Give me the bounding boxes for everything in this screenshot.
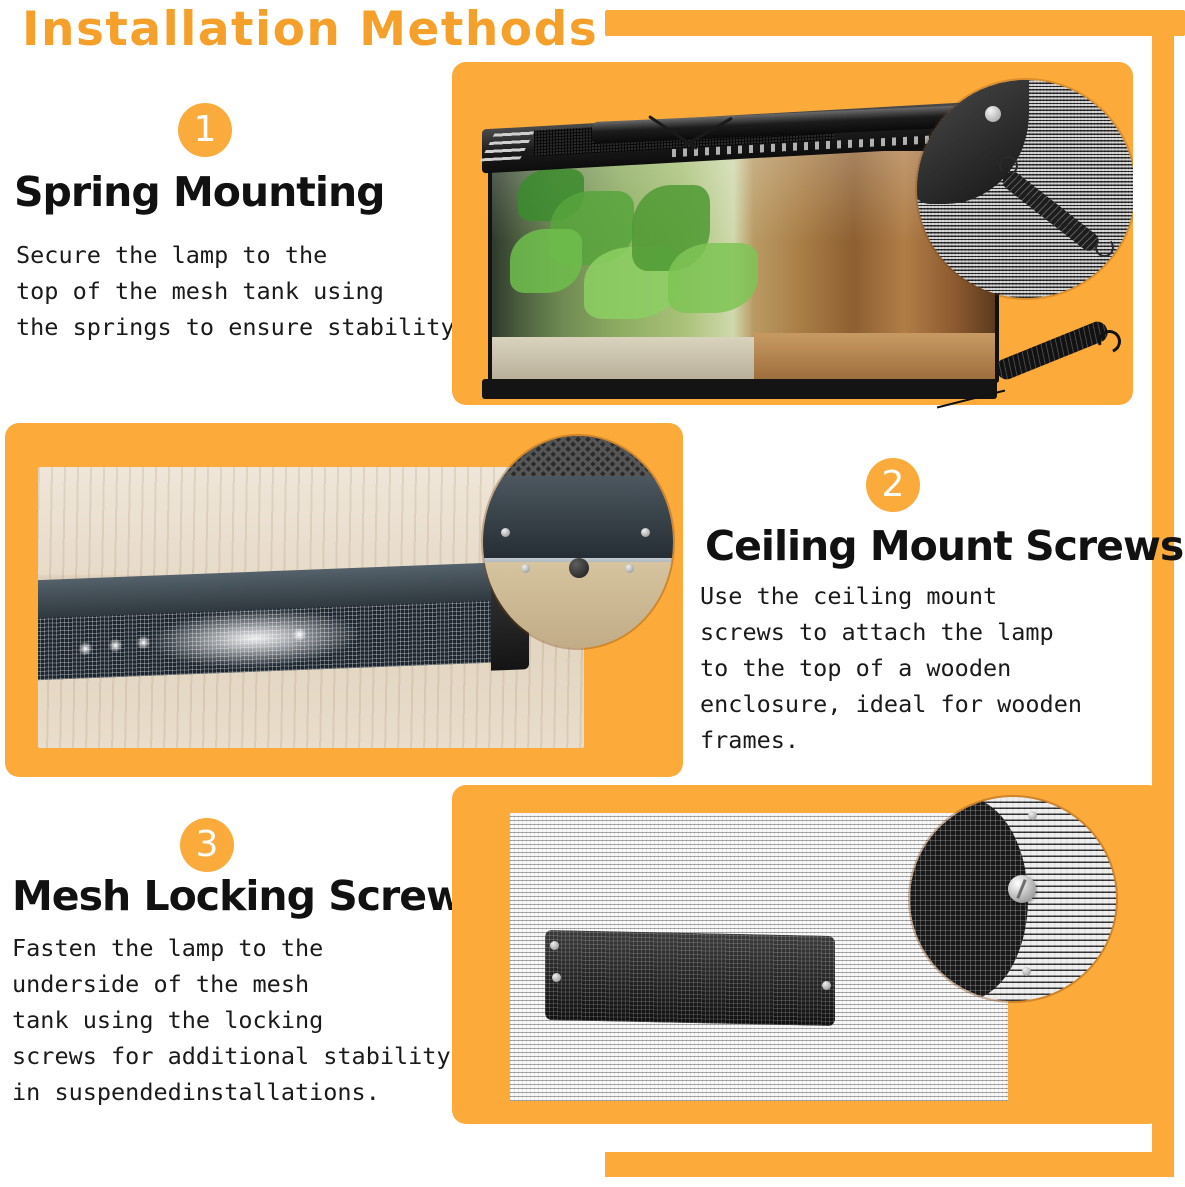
lid-screw-icon: [985, 106, 1001, 122]
step-body-3-line-5: in suspendedinstallations.: [12, 1074, 451, 1110]
step-body-2-line-4: enclosure, ideal for wooden: [700, 686, 1082, 722]
step-body-2-line-1: Use the ceiling mount: [700, 578, 1082, 614]
step-body-3: Fasten the lamp to the underside of the …: [12, 930, 451, 1110]
inset-lamp-panel: [483, 476, 673, 566]
step-body-3-line-3: tank using the locking: [12, 1002, 451, 1038]
page-title: Installation Methods: [22, 2, 598, 57]
step-body-1: Secure the lamp to the top of the mesh t…: [16, 237, 469, 345]
lamp-under-mesh: [545, 930, 835, 1026]
inset-mesh-strip: [483, 436, 673, 480]
spring-detail-inset: [917, 80, 1133, 298]
step-body-1-line-1: Secure the lamp to the: [16, 237, 469, 273]
step-body-2-line-5: frames.: [700, 722, 1082, 758]
step-heading-3: Mesh Locking Screws: [12, 872, 486, 920]
spring-in-mesh: [999, 168, 1102, 254]
bracket-screw-left: [501, 528, 510, 537]
terrarium-base-rail: [482, 379, 997, 399]
mesh-screw-detail-inset: [910, 797, 1116, 1001]
inset-corner-screw-top: [1028, 811, 1037, 820]
inset-lamp-edge: [910, 797, 1028, 1001]
step-body-3-line-4: screws for additional stability: [12, 1038, 451, 1074]
bracket-screw-lower-right: [625, 564, 634, 573]
step-heading-1: Spring Mounting: [14, 168, 385, 216]
bracket-screw-right: [641, 528, 650, 537]
step-body-1-line-3: the springs to ensure stability.: [16, 309, 469, 345]
mesh-lock-screw-right: [822, 981, 831, 990]
spring-hook-top: [999, 156, 1018, 175]
mesh-locking-screw-icon: [1008, 875, 1036, 903]
inset-corner-screw-bottom: [1022, 967, 1031, 976]
frame-bar-top: [605, 10, 1185, 36]
frame-bar-bottom: [605, 1152, 1174, 1177]
photo-card-step-2: [5, 423, 683, 777]
spring-hook-bottom: [1095, 238, 1114, 257]
step-body-3-line-2: underside of the mesh: [12, 966, 451, 1002]
terrarium-sand: [754, 333, 995, 379]
ceiling-mount-screw-icon: [569, 558, 589, 578]
bracket-screw-lower-left: [521, 564, 530, 573]
mesh-lock-screw-left-upper: [550, 941, 559, 950]
step-heading-2: Ceiling Mount Screws: [705, 522, 1183, 570]
infographic-root: Installation Methods 1 Spring Mounting S…: [0, 0, 1185, 1187]
ceiling-screw-detail-inset: [483, 436, 673, 648]
step-number-badge-3: 3: [180, 818, 234, 872]
terrarium-vents: [480, 128, 536, 161]
step-body-1-line-2: top of the mesh tank using: [16, 273, 469, 309]
step-number-badge-1: 1: [178, 103, 232, 157]
step-body-2: Use the ceiling mount screws to attach t…: [700, 578, 1082, 758]
mounted-lamp-bar: [38, 562, 512, 684]
step-body-2-line-3: to the top of a wooden: [700, 650, 1082, 686]
mesh-lock-screw-left: [552, 973, 561, 982]
step-number-badge-2: 2: [866, 458, 920, 512]
photo-card-step-3: [452, 785, 1162, 1124]
step-body-2-line-2: screws to attach the lamp: [700, 614, 1082, 650]
step-body-3-line-1: Fasten the lamp to the: [12, 930, 451, 966]
